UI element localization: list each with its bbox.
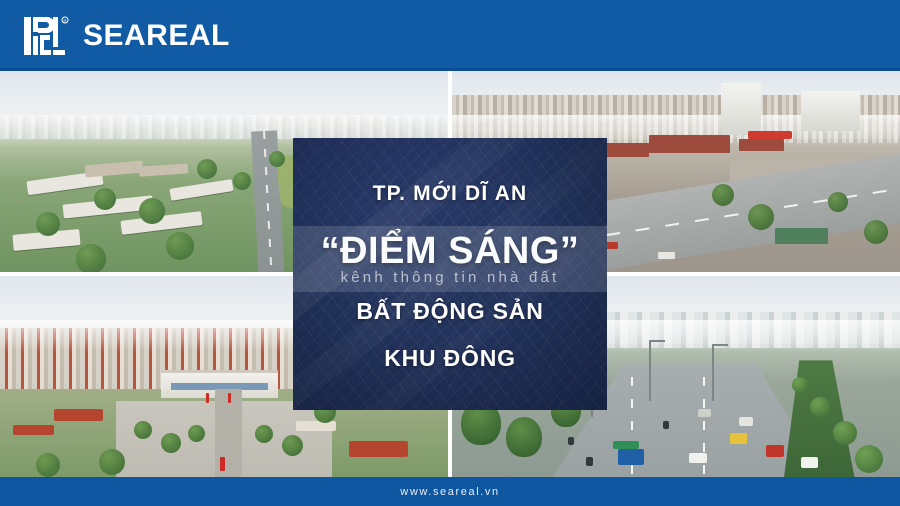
red-roof-house xyxy=(54,409,103,421)
tree xyxy=(94,188,116,210)
median-tree xyxy=(792,377,808,393)
tree xyxy=(748,204,774,230)
footer-bar: www.seareal.vn xyxy=(0,477,900,506)
motorbike xyxy=(663,421,669,429)
tree xyxy=(139,198,165,224)
headline-highlight: “ĐIỂM SÁNG” xyxy=(321,232,580,270)
seareal-monogram-icon: R xyxy=(22,13,70,59)
median-tree xyxy=(855,445,883,473)
median-tree xyxy=(810,397,830,417)
truck xyxy=(766,445,784,457)
car xyxy=(739,417,753,426)
headline-city: TP. MỚI DĨ AN xyxy=(373,182,528,206)
street-light xyxy=(649,340,651,400)
tree xyxy=(36,453,60,477)
apartment-building xyxy=(801,91,859,131)
car xyxy=(698,409,711,417)
warehouse-roof xyxy=(649,135,730,153)
villa-roof xyxy=(296,421,336,431)
tree xyxy=(134,421,152,439)
bus xyxy=(618,449,644,465)
tree xyxy=(76,244,106,272)
headline-panel: TP. MỚI DĨ AN “ĐIỂM SÁNG” BẤT ĐỘNG SẢN K… xyxy=(293,138,607,410)
promo-banner: R SEAREAL xyxy=(0,0,900,506)
motorbike xyxy=(568,437,574,445)
tree xyxy=(828,192,848,212)
headline-segment: BẤT ĐỘNG SẢN xyxy=(356,298,543,325)
monument-figure xyxy=(220,457,225,471)
van xyxy=(730,433,747,444)
median-tree xyxy=(833,421,857,445)
red-gate-structure xyxy=(748,131,793,139)
tree xyxy=(161,433,181,453)
tree xyxy=(233,172,251,190)
housing-block xyxy=(170,179,234,201)
red-roof-house xyxy=(349,441,407,457)
tree xyxy=(712,184,734,206)
headline-text-stack: TP. MỚI DĨ AN “ĐIỂM SÁNG” BẤT ĐỘNG SẢN K… xyxy=(293,138,607,410)
red-roof-house xyxy=(13,425,53,435)
brand-name: SEAREAL xyxy=(83,21,230,51)
warehouse-roof xyxy=(739,139,784,151)
tree xyxy=(36,212,60,236)
roadside-tree xyxy=(506,417,542,457)
street-light xyxy=(712,344,714,400)
bus-roof xyxy=(613,441,639,449)
tree xyxy=(282,435,303,456)
flag xyxy=(206,393,209,403)
svg-text:R: R xyxy=(64,18,67,23)
car xyxy=(801,457,818,468)
tree xyxy=(864,220,888,244)
motorbike xyxy=(586,457,593,466)
high-rise-building xyxy=(721,83,761,135)
green-roof xyxy=(775,228,829,244)
headline-zone: KHU ĐÔNG xyxy=(384,345,516,372)
brand-logo[interactable]: R SEAREAL xyxy=(0,13,230,59)
header-bar: R SEAREAL xyxy=(0,0,900,71)
tree xyxy=(99,449,125,475)
vehicle xyxy=(658,252,675,259)
tree xyxy=(166,232,194,260)
tree xyxy=(197,159,217,179)
tree xyxy=(188,425,205,442)
tree xyxy=(255,425,273,443)
rooftop xyxy=(85,161,144,178)
rooftop xyxy=(139,164,189,177)
car xyxy=(689,453,707,463)
website-url[interactable]: www.seareal.vn xyxy=(400,486,499,498)
